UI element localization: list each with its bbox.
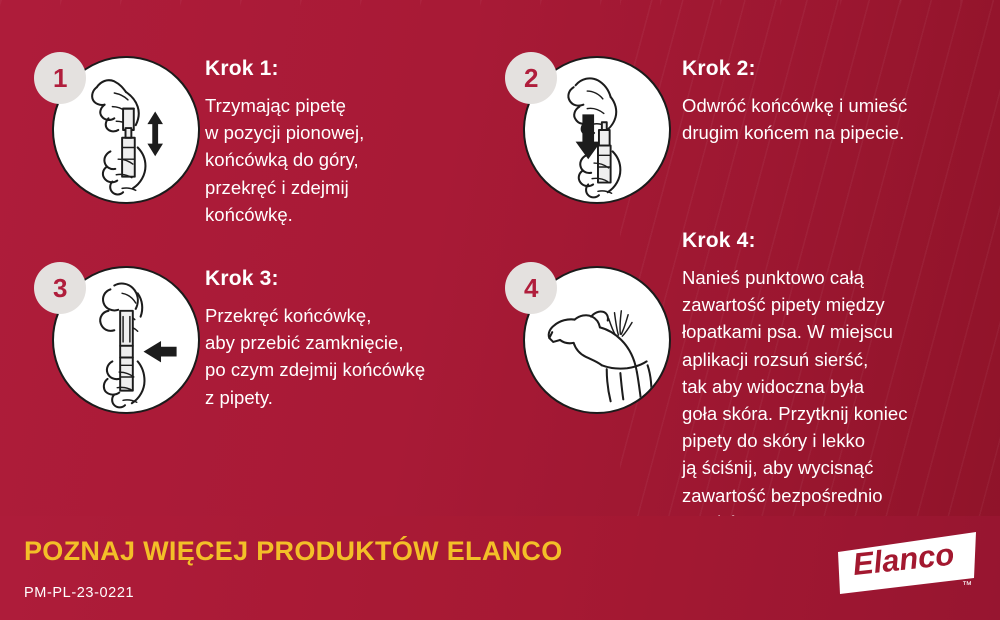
footer-bar: POZNAJ WIĘCEJ PRODUKTÓW ELANCO PM-PL-23-… bbox=[0, 516, 1000, 620]
step-2: 2 Krok 2: Odwróć końcówkę i umieść drugi… bbox=[505, 52, 985, 207]
step-2-title: Krok 2: bbox=[682, 58, 985, 79]
step-3-illustration-wrap: 3 bbox=[34, 262, 189, 417]
step-4: 4 Krok 4: Nanieś punktowo całą zawartość… bbox=[505, 262, 985, 536]
footer-headline: POZNAJ WIĘCEJ PRODUKTÓW ELANCO bbox=[24, 538, 563, 565]
step-2-number: 2 bbox=[524, 65, 538, 91]
step-2-body: Odwróć końcówkę i umieść drugim końcem n… bbox=[682, 92, 985, 146]
elanco-logo: Elanco ™ bbox=[836, 530, 982, 602]
step-1-number: 1 bbox=[53, 65, 67, 91]
step-1-title: Krok 1: bbox=[205, 58, 460, 79]
svg-text:™: ™ bbox=[962, 580, 972, 591]
step-4-illustration-wrap: 4 bbox=[505, 262, 660, 417]
footer-code: PM-PL-23-0221 bbox=[24, 586, 134, 601]
step-3-badge: 3 bbox=[34, 262, 86, 314]
step-1-body: Trzymając pipetę w pozycji pionowej, koń… bbox=[205, 92, 460, 228]
step-3-body: Przekręć końcówkę, aby przebić zamknięci… bbox=[205, 302, 490, 411]
step-2-illustration-wrap: 2 bbox=[505, 52, 660, 207]
step-2-text: Krok 2: Odwróć końcówkę i umieść drugim … bbox=[682, 52, 985, 146]
step-1-text: Krok 1: Trzymając pipetę w pozycji piono… bbox=[205, 52, 460, 228]
step-4-number: 4 bbox=[524, 275, 538, 301]
step-3-title: Krok 3: bbox=[205, 268, 490, 289]
step-1-illustration-wrap: 1 bbox=[34, 52, 189, 207]
step-1: 1 Krok 1: Trzymając pipetę w pozycji pio… bbox=[34, 52, 464, 228]
step-1-badge: 1 bbox=[34, 52, 86, 104]
step-4-badge: 4 bbox=[505, 262, 557, 314]
step-2-badge: 2 bbox=[505, 52, 557, 104]
step-3-text: Krok 3: Przekręć końcówkę, aby przebić z… bbox=[205, 262, 490, 411]
infographic-page: 1 Krok 1: Trzymając pipetę w pozycji pio… bbox=[0, 0, 1000, 620]
step-4-text: Krok 4: Nanieś punktowo całą zawartość p… bbox=[682, 224, 985, 536]
step-4-title: Krok 4: bbox=[682, 230, 985, 251]
step-4-body: Nanieś punktowo całą zawartość pipety mi… bbox=[682, 264, 985, 536]
step-3-number: 3 bbox=[53, 275, 67, 301]
step-3: 3 Krok 3: Przekręć końcówkę, aby przebić… bbox=[34, 262, 494, 417]
